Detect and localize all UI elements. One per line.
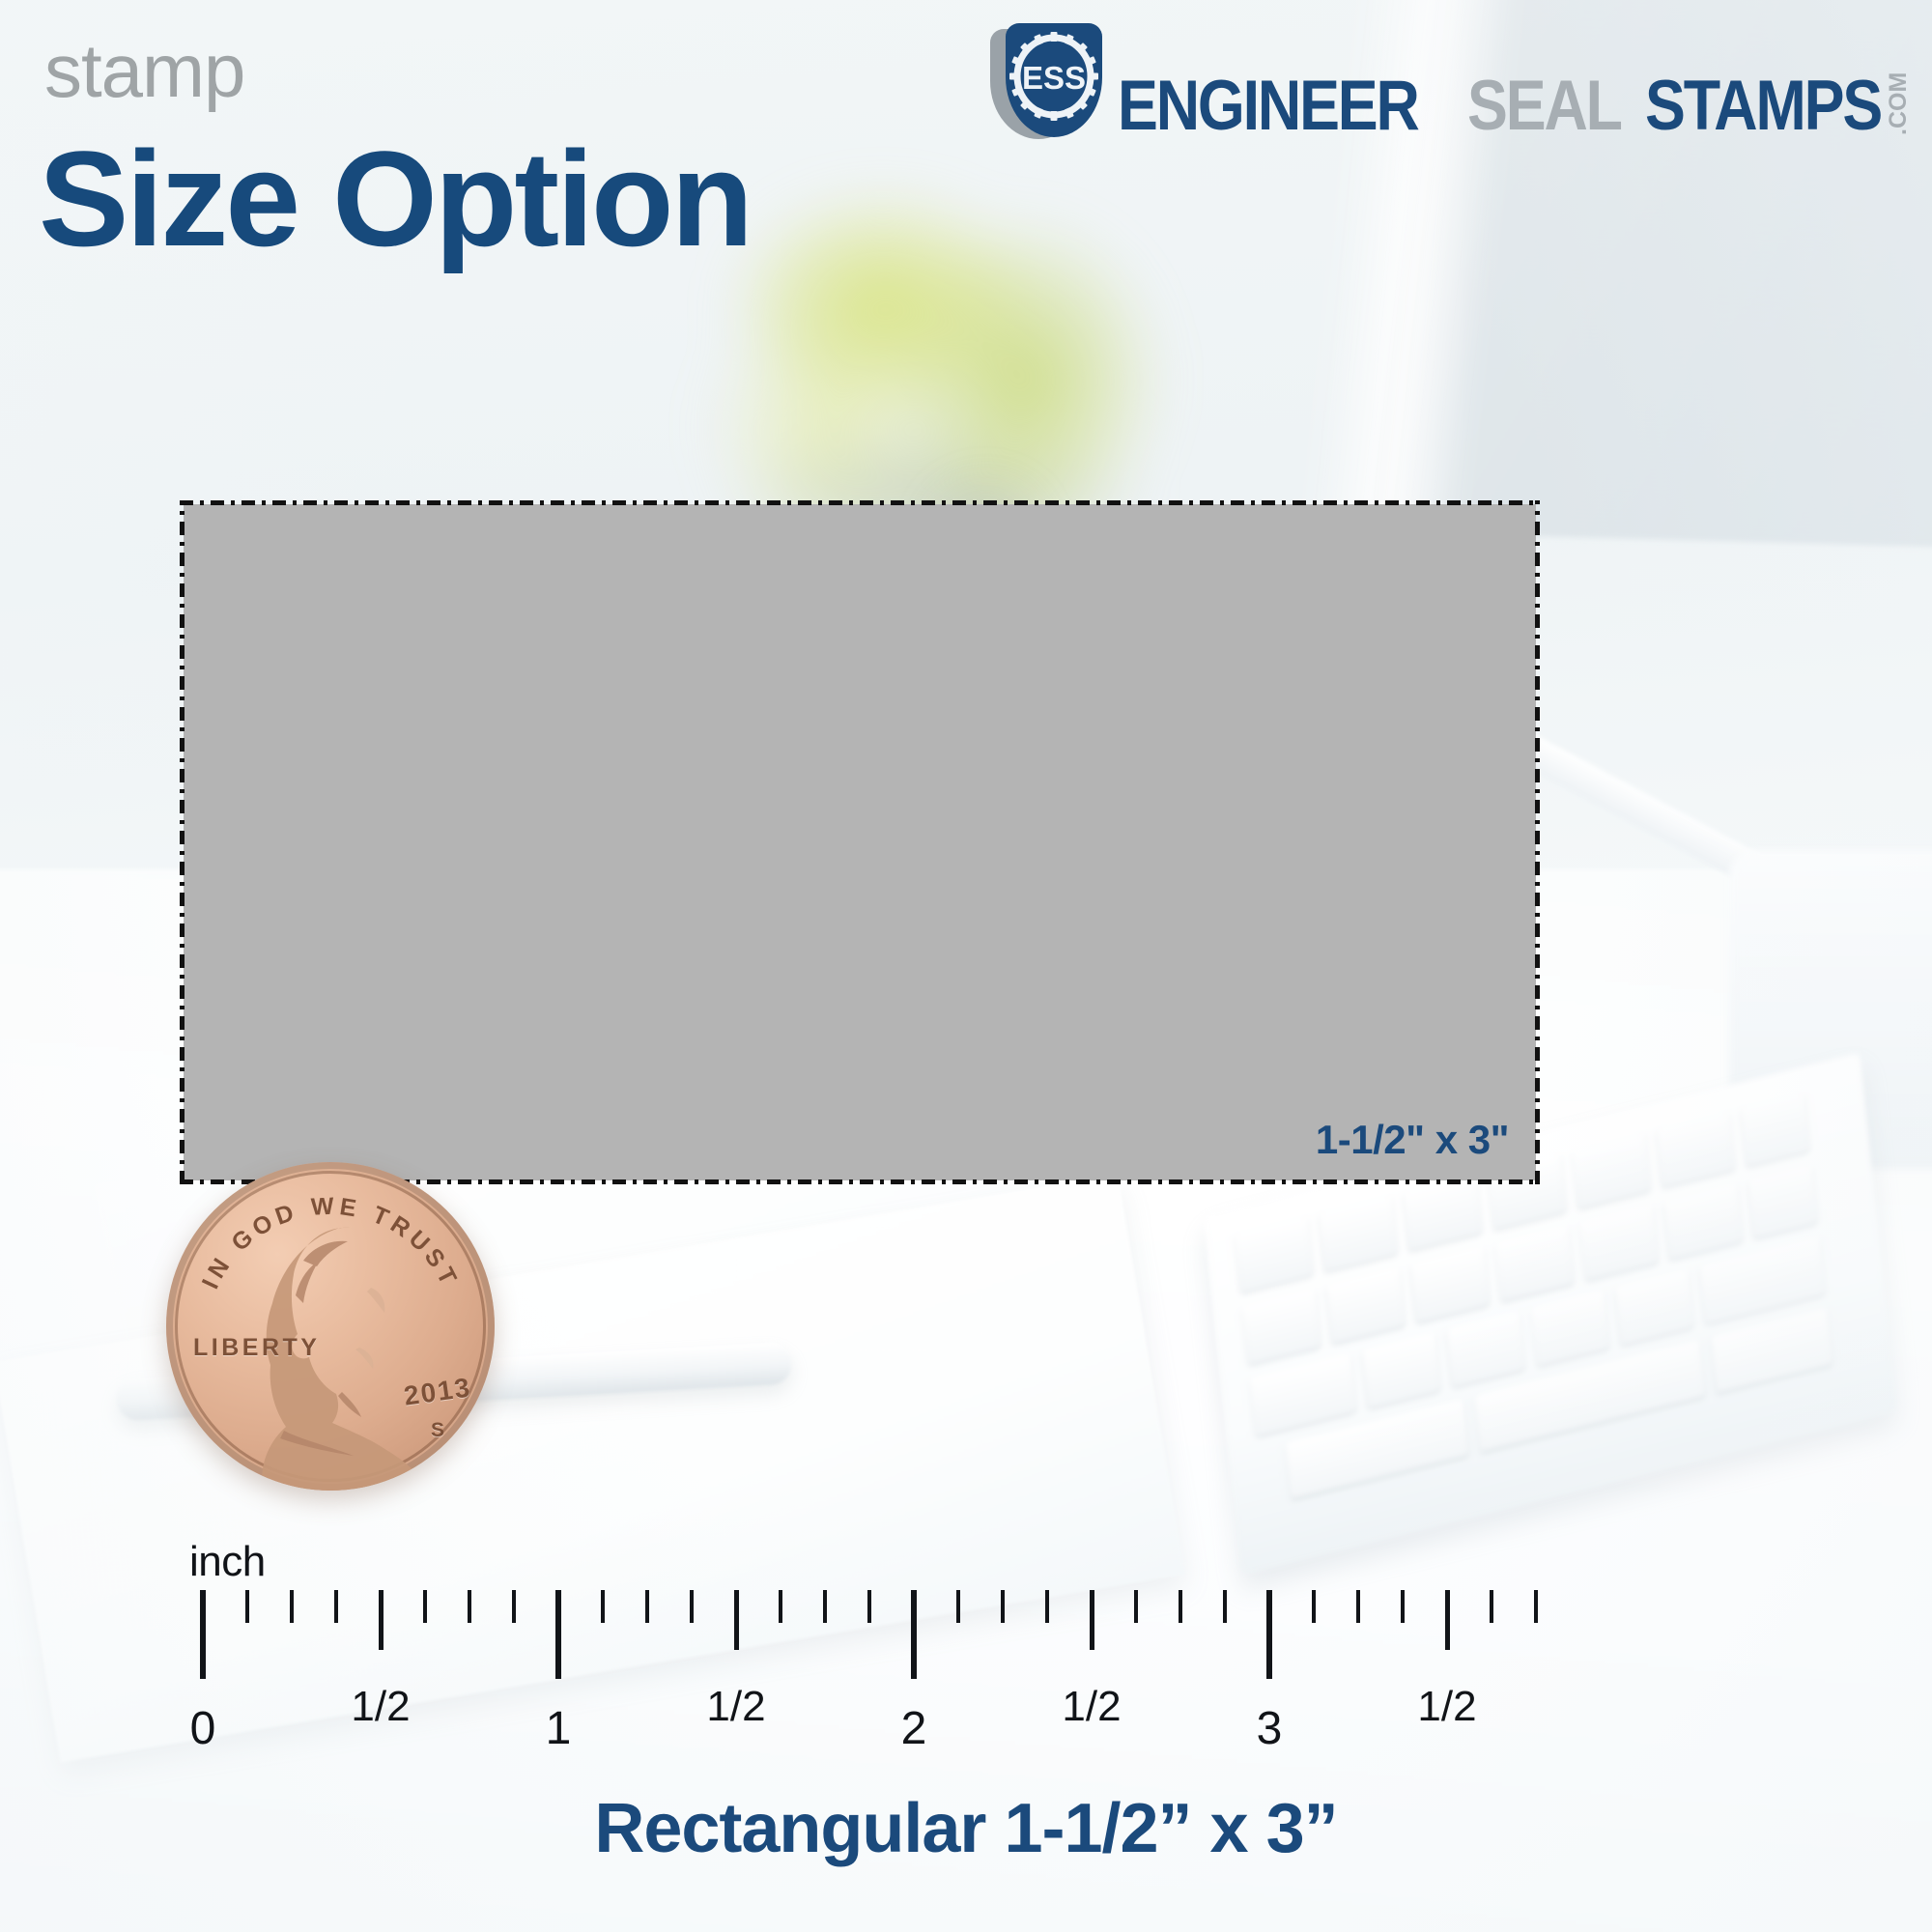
- ess-badge-text: ESS: [1022, 60, 1086, 96]
- stamp-size-label: 1-1/2" x 3": [1316, 1117, 1509, 1163]
- ruler-tick-minor: [690, 1590, 694, 1623]
- ruler-tick-minor: [1223, 1590, 1227, 1623]
- ruler-tick-minor: [1045, 1590, 1049, 1623]
- eyebrow-label: stamp: [44, 33, 244, 108]
- ruler-tick-minor: [1534, 1590, 1538, 1623]
- size-option-graphic: stamp Size Option: [0, 0, 1932, 1932]
- ruler-label-4: 2: [901, 1702, 927, 1755]
- penny-coin: IN GOD WE TRUST LIBERTY 2: [166, 1162, 495, 1491]
- ruler-tick-major: [911, 1590, 917, 1679]
- ruler-tick-minor: [867, 1590, 871, 1623]
- shape-caption: Rectangular 1-1/2” x 3”: [0, 1789, 1932, 1868]
- ruler-tick-minor: [245, 1590, 249, 1623]
- logo-dotcom-suffix: .COM: [1887, 66, 1911, 135]
- ruler-tick-half: [1090, 1590, 1094, 1650]
- ruler-tick-minor: [779, 1590, 782, 1623]
- gear-icon: ESS: [1006, 23, 1102, 137]
- ruler-tick-minor: [1490, 1590, 1493, 1623]
- ruler-tick-half: [1445, 1590, 1450, 1650]
- ruler-tick-minor: [423, 1590, 427, 1623]
- ruler-tick-minor: [601, 1590, 605, 1623]
- ruler-tick-minor: [512, 1590, 516, 1623]
- coin-mint-mark: S: [431, 1419, 444, 1442]
- logo-wordmark: ENGINEER SEAL STAMPS .COM: [1118, 21, 1911, 141]
- ruler-tick-half: [734, 1590, 739, 1650]
- ruler-tick-minor: [645, 1590, 649, 1623]
- ruler-tick-minor: [334, 1590, 338, 1623]
- logo-word-stamps: STAMPS: [1645, 71, 1881, 141]
- ruler-tick-minor: [956, 1590, 960, 1623]
- ruler-tick-major: [200, 1590, 206, 1679]
- ruler-tick-minor: [290, 1590, 294, 1623]
- ruler: inch 01/211/221/231/2: [0, 1565, 1932, 1797]
- ruler-tick-major: [1266, 1590, 1272, 1679]
- ruler-tick-minor: [1001, 1590, 1005, 1623]
- coin-liberty-text: LIBERTY: [193, 1334, 320, 1362]
- logo-word-seal: SEAL: [1467, 71, 1621, 141]
- ruler-label-2: 1: [546, 1702, 572, 1755]
- logo-word-engineer: ENGINEER: [1118, 71, 1418, 141]
- ruler-label-0: 0: [190, 1702, 216, 1755]
- page-title: Size Option: [39, 131, 751, 267]
- ruler-tick-minor: [468, 1590, 471, 1623]
- ruler-label-6: 3: [1257, 1702, 1283, 1755]
- ruler-label-1: 1/2: [351, 1683, 410, 1731]
- ruler-tick-half: [379, 1590, 384, 1650]
- brand-logo[interactable]: ESS ENGINEER SEAL STAMPS .COM: [990, 21, 1911, 141]
- ruler-label-5: 1/2: [1062, 1683, 1121, 1731]
- stamp-preview-border: [180, 500, 1540, 1184]
- ess-badge-icon: ESS: [990, 21, 1104, 141]
- ruler-tick-minor: [1356, 1590, 1360, 1623]
- ruler-tick-minor: [1134, 1590, 1138, 1623]
- ruler-tick-minor: [823, 1590, 827, 1623]
- ruler-label-7: 1/2: [1417, 1683, 1476, 1731]
- ruler-label-3: 1/2: [706, 1683, 765, 1731]
- ruler-tick-minor: [1401, 1590, 1405, 1623]
- ruler-tick-minor: [1312, 1590, 1316, 1623]
- ruler-unit-label: inch: [189, 1538, 266, 1586]
- ruler-tick-minor: [1179, 1590, 1182, 1623]
- stamp-preview-shape: 1-1/2" x 3": [184, 504, 1536, 1180]
- ruler-tick-major: [555, 1590, 561, 1679]
